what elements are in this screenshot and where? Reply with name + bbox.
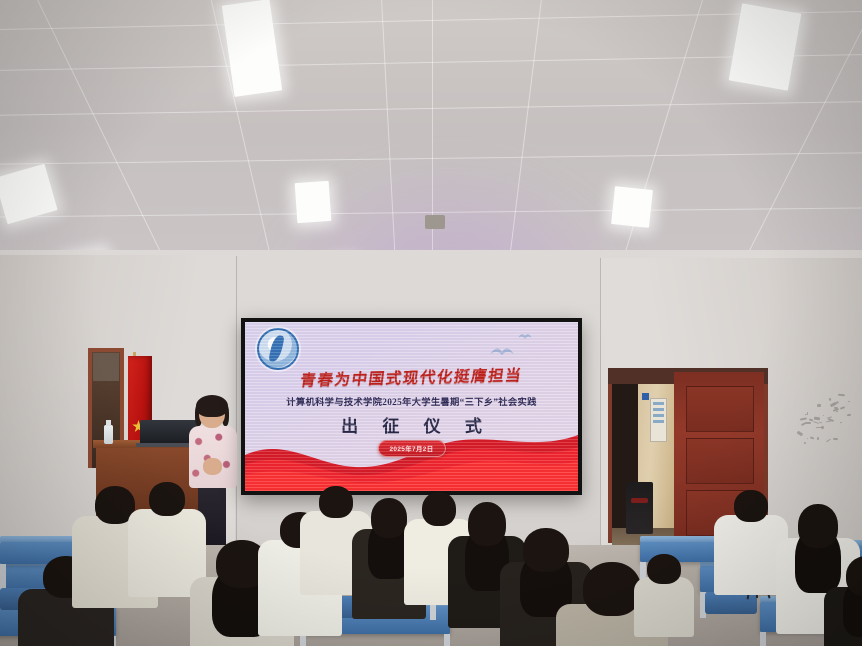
screen-date-badge: 2025年7月2日 <box>377 440 445 457</box>
ceiling-light-panel-5 <box>611 186 653 228</box>
audience-member <box>634 554 694 646</box>
presenter-hair-top <box>196 395 228 417</box>
presenter-hands <box>203 458 222 475</box>
audience-member-head <box>647 554 681 584</box>
presenter-floral-top <box>189 426 237 488</box>
door-panel-top <box>686 386 754 432</box>
door-sign-icon <box>642 393 649 400</box>
flying-bird-small-icon <box>517 331 533 341</box>
flying-birds-icon <box>489 344 515 360</box>
smoke-detector <box>425 215 445 229</box>
audience-member-head <box>734 490 768 522</box>
screen-headline: 青春为中国式现代化挺膺担当 <box>245 362 578 392</box>
audience-member-head <box>798 504 838 548</box>
trash-bin <box>626 482 653 534</box>
led-presentation-screen[interactable]: 青春为中国式现代化挺膺担当 计算机科学与技术学院2025年大学生暑期“三下乡”社… <box>241 318 582 495</box>
audience-member-torso <box>634 577 694 637</box>
ceiling-tile-line <box>0 10 862 32</box>
audience-member-head <box>149 482 185 516</box>
screen-content: 青春为中国式现代化挺膺担当 计算机科学与技术学院2025年大学生暑期“三下乡”社… <box>245 322 578 491</box>
university-emblem-icon <box>257 328 299 370</box>
audience-member-head <box>319 486 353 518</box>
audience-member <box>824 556 862 646</box>
screen-subtitle: 计算机科学与技术学院2025年大学生暑期“三下乡”社会实践 <box>245 394 578 408</box>
ceiling-tile-line <box>0 100 862 117</box>
audience-member-head <box>583 562 641 616</box>
wall-corner-seam <box>600 258 601 558</box>
door-panel-middle <box>686 438 754 484</box>
wall-calligraphy-decoration <box>793 392 859 448</box>
left-door-transom-glass <box>93 353 119 381</box>
hand-sanitizer-bottle <box>104 425 113 444</box>
door-notice-sheet <box>650 398 667 442</box>
desk-leg <box>0 564 6 590</box>
audience-member-head <box>371 498 407 538</box>
classroom-photo-scene: 青春为中国式现代化挺膺担当 计算机科学与技术学院2025年大学生暑期“三下乡”社… <box>0 0 862 646</box>
ceiling-light-panel-4 <box>295 181 332 223</box>
ceiling-light-panel-2 <box>729 3 802 90</box>
